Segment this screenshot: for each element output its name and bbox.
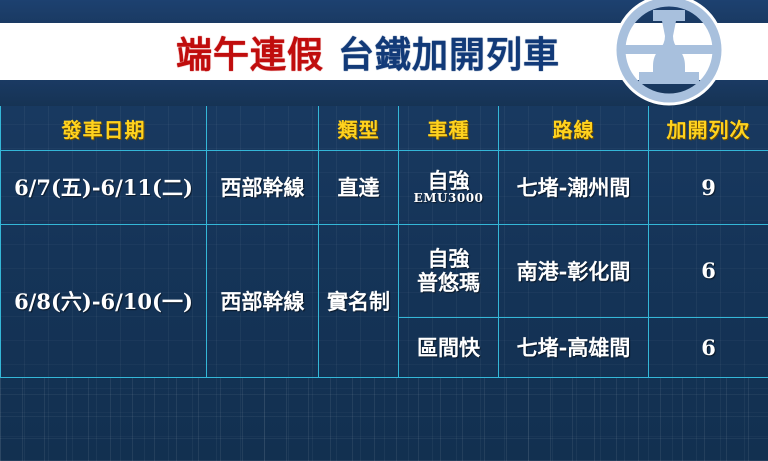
column-header-type: 類型	[319, 106, 399, 151]
table-row: 6/8(六)-6/10(一) 西部幹線 實名制 自強 普悠瑪 南港-彰化間 6	[1, 224, 768, 317]
cell-date-row2: 6/8(六)-6/10(一)	[1, 224, 207, 377]
taiwan-railway-logo-icon	[613, 0, 725, 106]
traintype-sub: EMU3000	[401, 192, 496, 205]
cell-count-row2a: 6	[649, 224, 768, 317]
cell-line-row2: 西部幹線	[207, 224, 319, 377]
table-row: 6/7(五)-6/11(二) 西部幹線 直達 自強 EMU3000 七堵-潮州間…	[1, 151, 768, 225]
cell-type-row2: 實名制	[319, 224, 399, 377]
bottom-panel-grid	[0, 378, 768, 461]
traintype-second: 普悠瑪	[401, 271, 496, 295]
cell-date-row1: 6/7(五)-6/11(二)	[1, 151, 207, 225]
schedule-table-container: 發車日期 類型 車種 路線 加開列次 6/7(五)-6/11(二) 西部幹線 直…	[0, 106, 768, 378]
table-header-row: 發車日期 類型 車種 路線 加開列次	[1, 106, 768, 151]
cell-route-row2a: 南港-彰化間	[499, 224, 649, 317]
cell-traintype-row2a: 自強 普悠瑪	[399, 224, 499, 317]
column-header-traintype: 車種	[399, 106, 499, 151]
cell-route-row1: 七堵-潮州間	[499, 151, 649, 225]
traintype-main: 自強	[401, 169, 496, 193]
bottom-panel	[0, 378, 768, 461]
column-header-route: 路線	[499, 106, 649, 151]
title-blue-text: 台鐵加開列車	[338, 26, 560, 78]
column-header-date: 發車日期	[1, 106, 207, 151]
title-red-text: 端午連假	[176, 26, 324, 78]
cell-line-row1: 西部幹線	[207, 151, 319, 225]
cell-count-row1: 9	[649, 151, 768, 225]
column-header-count: 加開列次	[649, 106, 768, 151]
traintype-main: 自強	[401, 247, 496, 271]
column-header-blank	[207, 106, 319, 151]
cell-traintype-row1: 自強 EMU3000	[399, 151, 499, 225]
cell-count-row2b: 6	[649, 317, 768, 377]
poster-root: 端午連假 台鐵加開列車 發車日期 類型 車種 路線	[0, 0, 768, 461]
cell-traintype-row2b: 區間快	[399, 317, 499, 377]
schedule-table: 發車日期 類型 車種 路線 加開列次 6/7(五)-6/11(二) 西部幹線 直…	[0, 106, 768, 378]
cell-route-row2b: 七堵-高雄間	[499, 317, 649, 377]
cell-type-row1: 直達	[319, 151, 399, 225]
